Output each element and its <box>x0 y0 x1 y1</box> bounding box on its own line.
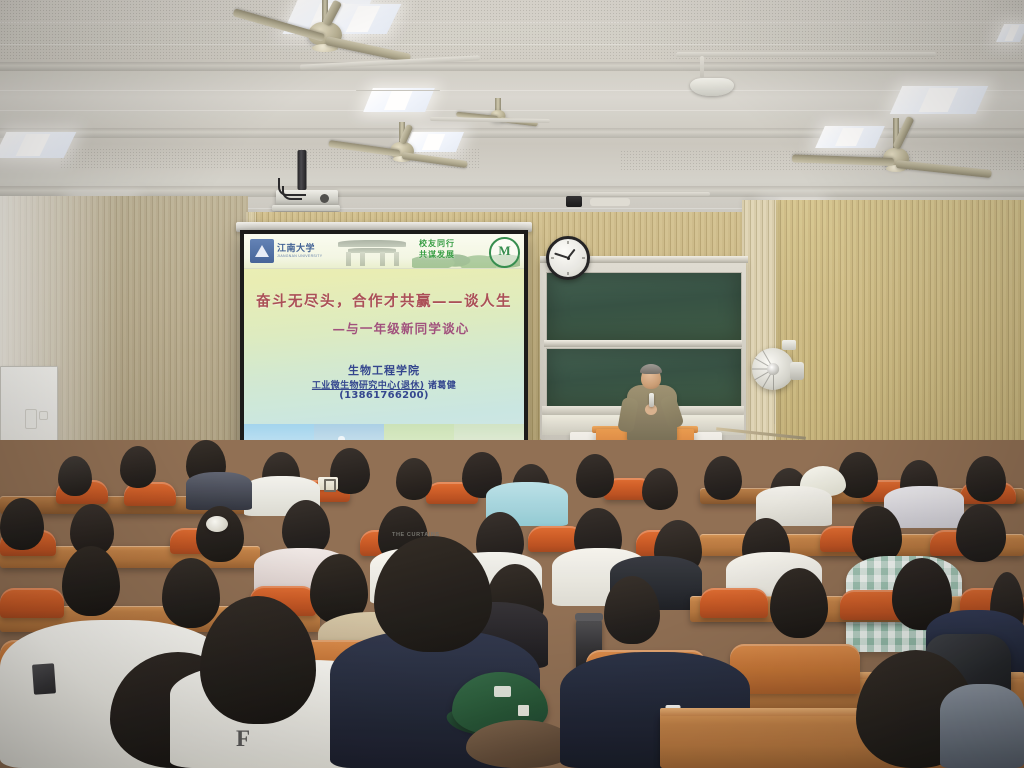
student-head <box>956 504 1006 562</box>
cap-logo-icon <box>494 686 511 697</box>
ceiling-fan <box>458 98 538 132</box>
hair-scrunchie <box>206 516 228 532</box>
foreground-torso <box>940 684 1024 768</box>
cap-tag <box>518 705 529 716</box>
student-head <box>196 506 244 562</box>
ceiling-fan <box>796 118 996 200</box>
hair-clip <box>318 477 338 490</box>
ceiling-fan <box>332 122 472 184</box>
student-head <box>0 498 44 550</box>
campus-gate-icon <box>336 238 408 266</box>
circular-logo-icon <box>489 237 520 268</box>
slide-organization: 生物工程学院 <box>244 362 524 378</box>
student-head <box>576 454 614 498</box>
ceiling-projector <box>270 150 342 216</box>
ceiling-light-panel <box>363 88 435 112</box>
ceiling-light-panel <box>890 86 988 114</box>
tshirt-logo <box>32 663 56 694</box>
cabinet-panel <box>39 411 48 420</box>
duct-strip <box>590 198 630 206</box>
student-head <box>838 452 878 498</box>
slide-body: 奋斗无尽头，合作才共赢——谈人生 —与一年级新同学谈心 生物工程学院 工业微生物… <box>244 268 524 424</box>
microphone <box>649 393 654 407</box>
university-name-latin: JIANGNAN UNIVERSITY <box>277 254 322 258</box>
lecture-hall-photo: 江南大学 JIANGNAN UNIVERSITY 校友同行 共谋发展 奋斗无尽头… <box>0 0 1024 768</box>
lecturer-hair <box>640 364 662 374</box>
chalkboard-upper <box>546 272 742 342</box>
student-head <box>704 456 742 500</box>
cabinet-panel <box>25 409 37 429</box>
seat-back[interactable] <box>700 588 768 618</box>
student-head <box>396 458 432 500</box>
university-logo-icon <box>250 239 274 263</box>
wall-mounted-fan[interactable] <box>752 340 812 424</box>
seat-back[interactable] <box>0 588 64 618</box>
student-head <box>120 446 156 488</box>
slide-title: 奋斗无尽头，合作才共赢——谈人生 <box>244 290 524 311</box>
student-head <box>966 456 1006 502</box>
slide-phone: (13861766200) <box>244 390 524 401</box>
slide-subtitle: —与一年级新同学谈心 <box>244 318 524 337</box>
wall-clock <box>546 236 590 280</box>
slide-header-band: 江南大学 JIANGNAN UNIVERSITY 校友同行 共谋发展 <box>244 234 524 269</box>
student-head <box>642 468 678 510</box>
wall-speaker <box>566 196 582 207</box>
banner-line-1: 校友同行 <box>419 238 455 249</box>
banner-line-2: 共谋发展 <box>419 249 455 260</box>
slide-content: 江南大学 JIANGNAN UNIVERSITY 校友同行 共谋发展 奋斗无尽头… <box>244 234 524 458</box>
university-name: 江南大学 <box>277 241 315 254</box>
student-head <box>58 456 92 496</box>
student-torso <box>186 472 252 510</box>
ceiling-light-panel <box>0 132 76 158</box>
projection-screen: 江南大学 JIANGNAN UNIVERSITY 校友同行 共谋发展 奋斗无尽头… <box>240 230 528 462</box>
banner-text: 校友同行 共谋发展 <box>419 238 455 260</box>
